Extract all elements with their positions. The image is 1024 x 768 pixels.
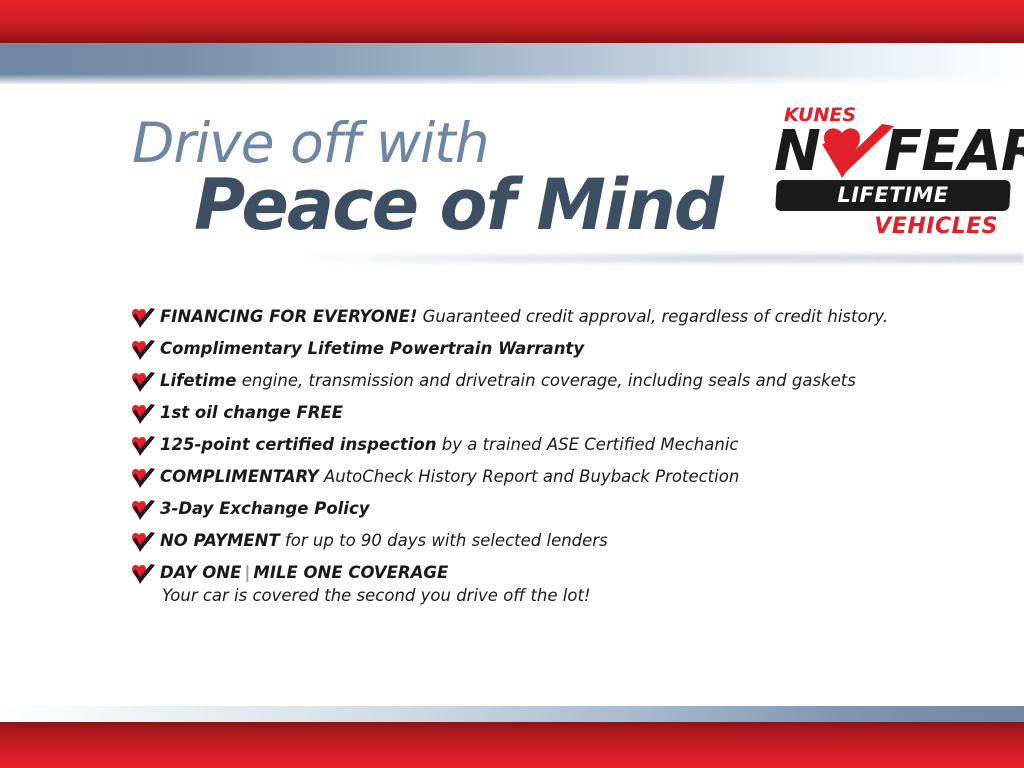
list-item-rest: Guaranteed credit approval, regardless o… <box>417 307 888 326</box>
list-item-separator: | <box>241 563 253 582</box>
list-item-bold: Complimentary Lifetime Powertrain Warran… <box>160 339 584 358</box>
logo-lifetime-certified-bar: LIFETIME CERTIFIED <box>775 180 1011 211</box>
list-item-text: NO PAYMENT for up to 90 days with select… <box>160 530 608 552</box>
list-item-text: 125-point certified inspection by a trai… <box>160 434 738 456</box>
header-divider <box>300 254 1024 263</box>
list-item-bold: 1st oil change FREE <box>160 403 343 422</box>
list-item: Lifetime engine, transmission and drivet… <box>130 370 930 402</box>
list-item-bold: Lifetime <box>160 371 236 390</box>
heart-check-icon <box>130 307 160 329</box>
logo-vehicles-text: VEHICLES <box>874 214 998 239</box>
header-section: Drive off with Peace of Mind KUNES N FEA… <box>0 96 1024 266</box>
heart-check-icon <box>130 371 160 393</box>
heart-check-icon <box>130 563 160 585</box>
list-item: FINANCING FOR EVERYONE! Guaranteed credi… <box>130 306 930 338</box>
list-item: DAY ONE|MILE ONE COVERAGEYour car is cov… <box>130 562 930 608</box>
headline-line-2: Peace of Mind <box>194 168 752 242</box>
list-item-rest: by a trained ASE Certified Mechanic <box>437 435 739 454</box>
list-item: COMPLIMENTARY AutoCheck History Report a… <box>130 466 930 498</box>
list-item-bold: FINANCING FOR EVERYONE! <box>160 307 417 326</box>
top-red-band <box>0 0 1024 43</box>
list-item: 125-point certified inspection by a trai… <box>130 434 930 466</box>
headline: Drive off with Peace of Mind <box>132 114 752 242</box>
logo-no-fear-wordmark: N FEAR <box>772 122 1012 184</box>
heart-check-icon <box>130 531 160 553</box>
list-item-bold-2: MILE ONE COVERAGE <box>253 563 448 582</box>
list-item: NO PAYMENT for up to 90 days with select… <box>130 530 930 562</box>
list-item-subtext: Your car is covered the second you drive… <box>162 585 591 607</box>
logo-word-fear: FEAR <box>884 124 1024 180</box>
heart-check-icon <box>130 467 160 489</box>
heart-check-icon <box>130 499 160 521</box>
list-item-bold: 3-Day Exchange Policy <box>160 499 370 518</box>
list-item-text: 3-Day Exchange Policy <box>160 498 370 520</box>
list-item-rest: engine, transmission and drivetrain cove… <box>236 371 855 390</box>
benefits-list: FINANCING FOR EVERYONE! Guaranteed credi… <box>130 306 930 608</box>
list-item-bold: COMPLIMENTARY <box>160 467 319 486</box>
bottom-red-band <box>0 722 1024 768</box>
heart-check-icon <box>130 435 160 457</box>
list-item-text: Lifetime engine, transmission and drivet… <box>160 370 856 392</box>
promotional-flyer: Drive off with Peace of Mind KUNES N FEA… <box>0 0 1024 768</box>
top-steel-band <box>0 43 1024 84</box>
list-item-text: FINANCING FOR EVERYONE! Guaranteed credi… <box>160 306 888 328</box>
heart-check-icon <box>130 403 160 425</box>
list-item-text: DAY ONE|MILE ONE COVERAGEYour car is cov… <box>160 562 591 607</box>
list-item-rest: AutoCheck History Report and Buyback Pro… <box>319 467 740 486</box>
heart-check-icon <box>130 339 160 361</box>
list-item: Complimentary Lifetime Powertrain Warran… <box>130 338 930 370</box>
list-item-text: 1st oil change FREE <box>160 402 343 424</box>
list-item-text: Complimentary Lifetime Powertrain Warran… <box>160 338 584 360</box>
kunes-no-fear-logo: KUNES N FEAR LIFETIME CERTIFIED VEHICLES <box>772 104 1012 240</box>
list-item: 1st oil change FREE <box>130 402 930 434</box>
list-item-bold: NO PAYMENT <box>160 531 280 550</box>
list-item-text: COMPLIMENTARY AutoCheck History Report a… <box>160 466 739 488</box>
list-item-bold: DAY ONE <box>160 563 241 582</box>
list-item-rest: for up to 90 days with selected lenders <box>280 531 608 550</box>
logo-letter-n: N <box>774 124 821 180</box>
list-item-bold: 125-point certified inspection <box>160 435 437 454</box>
list-item: 3-Day Exchange Policy <box>130 498 930 530</box>
logo-lifetime-certified-text: LIFETIME CERTIFIED <box>776 180 1010 211</box>
